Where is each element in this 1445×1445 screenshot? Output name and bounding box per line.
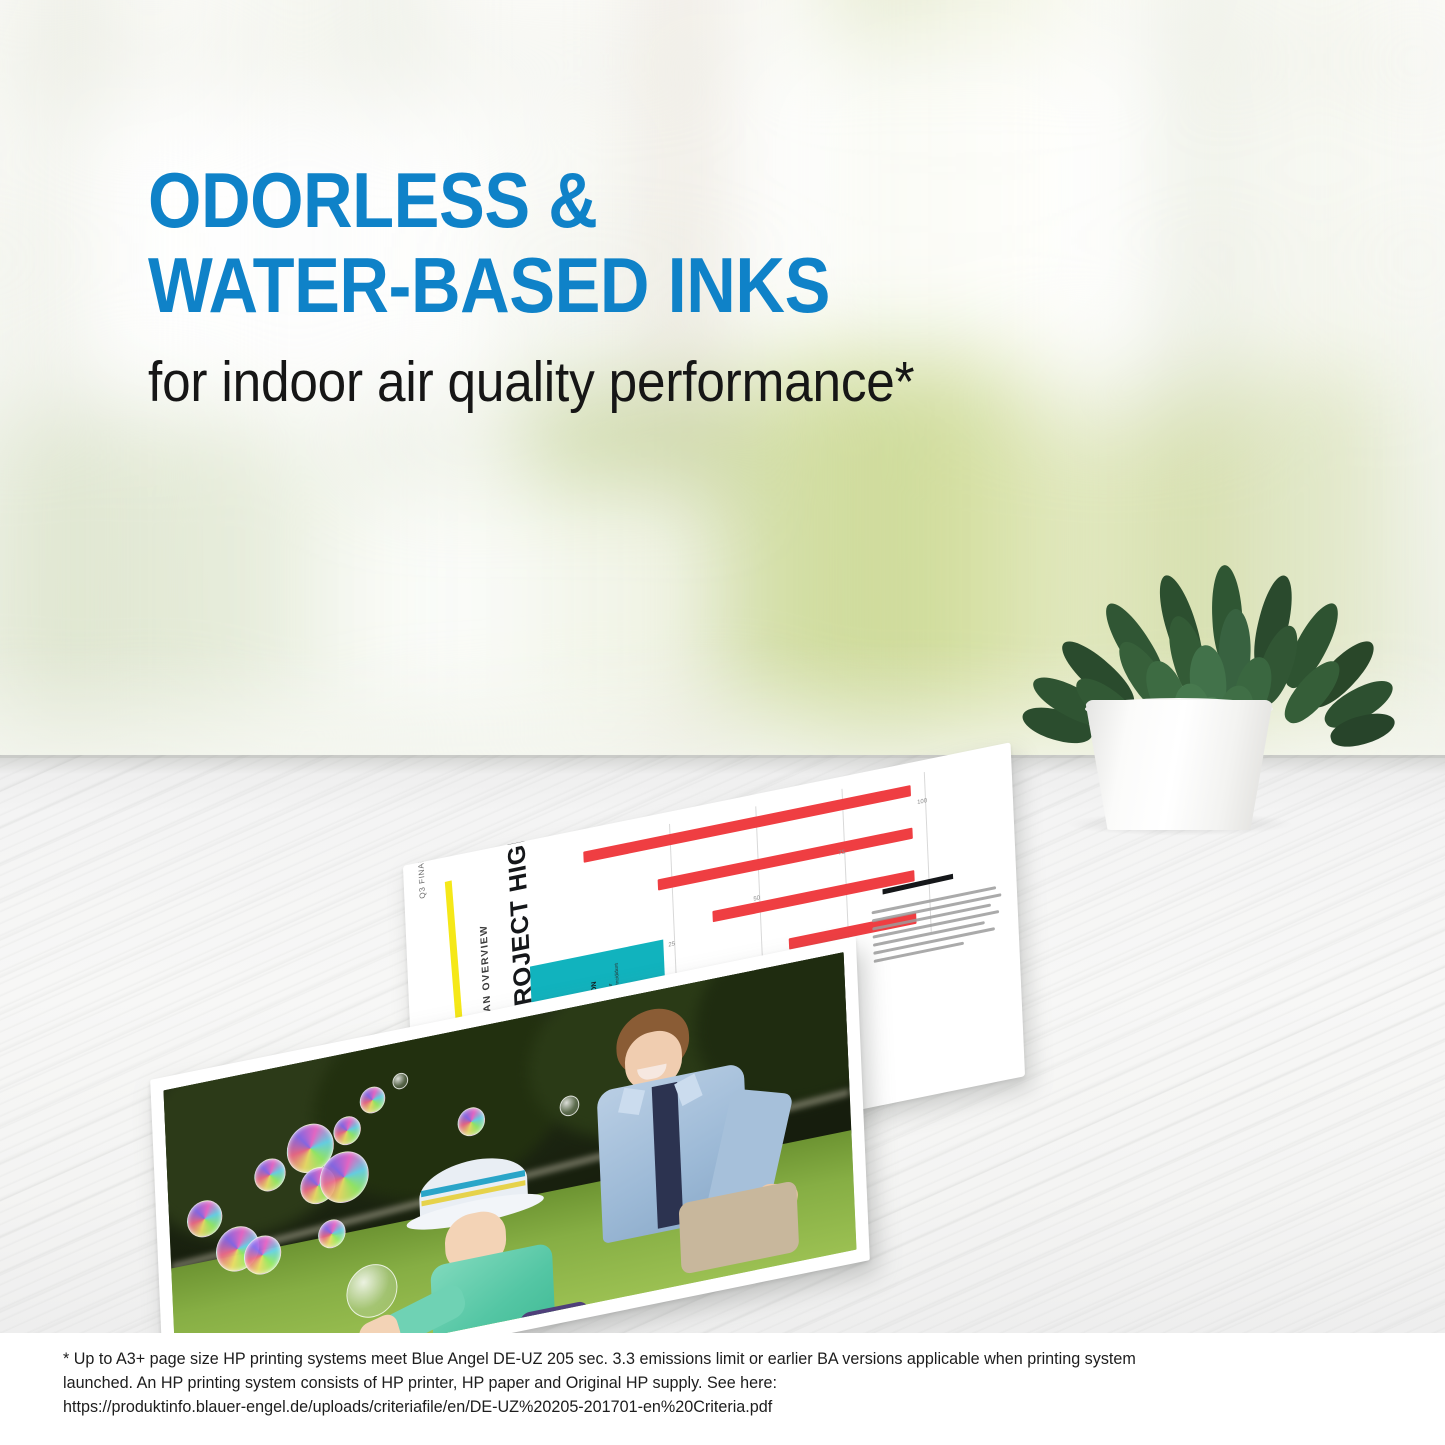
subheadline: for indoor air quality performance* [148, 353, 1210, 413]
report-overline: AN OVERVIEW [479, 923, 494, 1013]
report-accent-bar [445, 880, 462, 1018]
white-plant-pot [1085, 700, 1273, 830]
footnote-line-1: * Up to A3+ page size HP printing system… [63, 1347, 1327, 1371]
marketing-banner: Q3 FINANCIAL REPORT AN OVERVIEW PROJECT … [0, 0, 1445, 1445]
footnote-text: * Up to A3+ page size HP printing system… [63, 1347, 1327, 1419]
chart-tick-label: 50 [753, 895, 760, 902]
headline-block: ODORLESS & WATER-BASED INKS for indoor a… [148, 163, 1328, 413]
headline-line-1: ODORLESS & [148, 156, 597, 244]
footnote-line-3: https://produktinfo.blauer-engel.de/uplo… [63, 1395, 1327, 1419]
footnote-band: * Up to A3+ page size HP printing system… [0, 1333, 1445, 1445]
page-title: ODORLESS & WATER-BASED INKS [148, 163, 1186, 323]
footnote-line-2: launched. An HP printing system consists… [63, 1371, 1327, 1395]
headline-line-2: WATER-BASED INKS [148, 248, 1186, 323]
adult-figure [564, 978, 821, 1311]
